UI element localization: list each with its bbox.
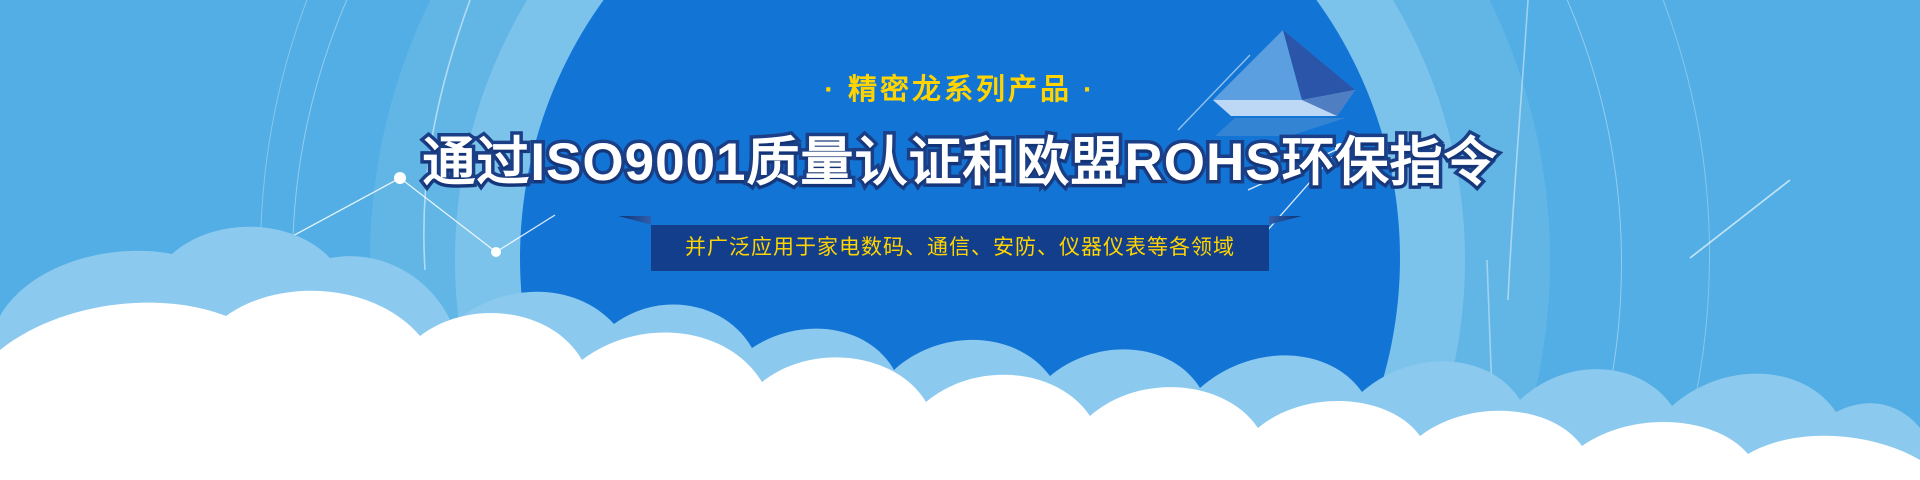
ribbon-fold-left-icon: [617, 216, 651, 225]
banner-headline: 通过ISO9001质量认证和欧盟ROHS环保指令: [422, 135, 1497, 191]
promo-banner: · 精密龙系列产品 · 通过ISO9001质量认证和欧盟ROHS环保指令 并广泛…: [0, 0, 1920, 480]
banner-ribbon: 并广泛应用于家电数码、通信、安防、仪器仪表等各领域: [651, 225, 1269, 271]
ribbon-text: 并广泛应用于家电数码、通信、安防、仪器仪表等各领域: [685, 237, 1235, 258]
ribbon-body: 并广泛应用于家电数码、通信、安防、仪器仪表等各领域: [651, 225, 1269, 271]
banner-eyebrow: · 精密龙系列产品 ·: [824, 76, 1095, 105]
ribbon-fold-right-icon: [1269, 216, 1303, 225]
banner-content: · 精密龙系列产品 · 通过ISO9001质量认证和欧盟ROHS环保指令 并广泛…: [0, 0, 1920, 480]
